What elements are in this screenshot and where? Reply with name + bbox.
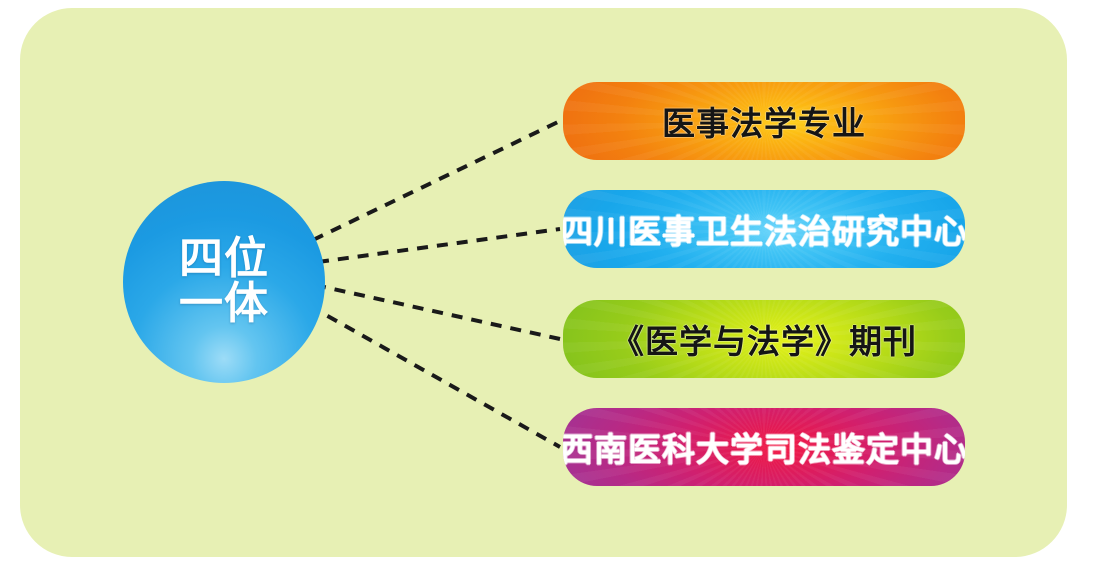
hub-label: 四位 一体 xyxy=(179,237,269,327)
node-box-sichuan-research-center[interactable]: 四川医事卫生法治研究中心 xyxy=(563,190,965,268)
node-box-medical-law-major[interactable]: 医事法学专业 xyxy=(563,82,965,160)
node-label: 西南医科大学司法鉴定中心 xyxy=(563,423,965,471)
node-label: 《医学与法学》期刊 xyxy=(611,315,917,363)
hub-circle[interactable]: 四位 一体 xyxy=(123,181,325,383)
diagram-canvas: 四位 一体 医事法学专业 四川医事卫生法治研究中心 《医学与法学》期刊 西南医科… xyxy=(0,0,1107,574)
node-label: 医事法学专业 xyxy=(662,97,866,145)
node-box-forensic-center[interactable]: 西南医科大学司法鉴定中心 xyxy=(563,408,965,486)
node-box-journal[interactable]: 《医学与法学》期刊 xyxy=(563,300,965,378)
node-label: 四川医事卫生法治研究中心 xyxy=(563,205,965,253)
